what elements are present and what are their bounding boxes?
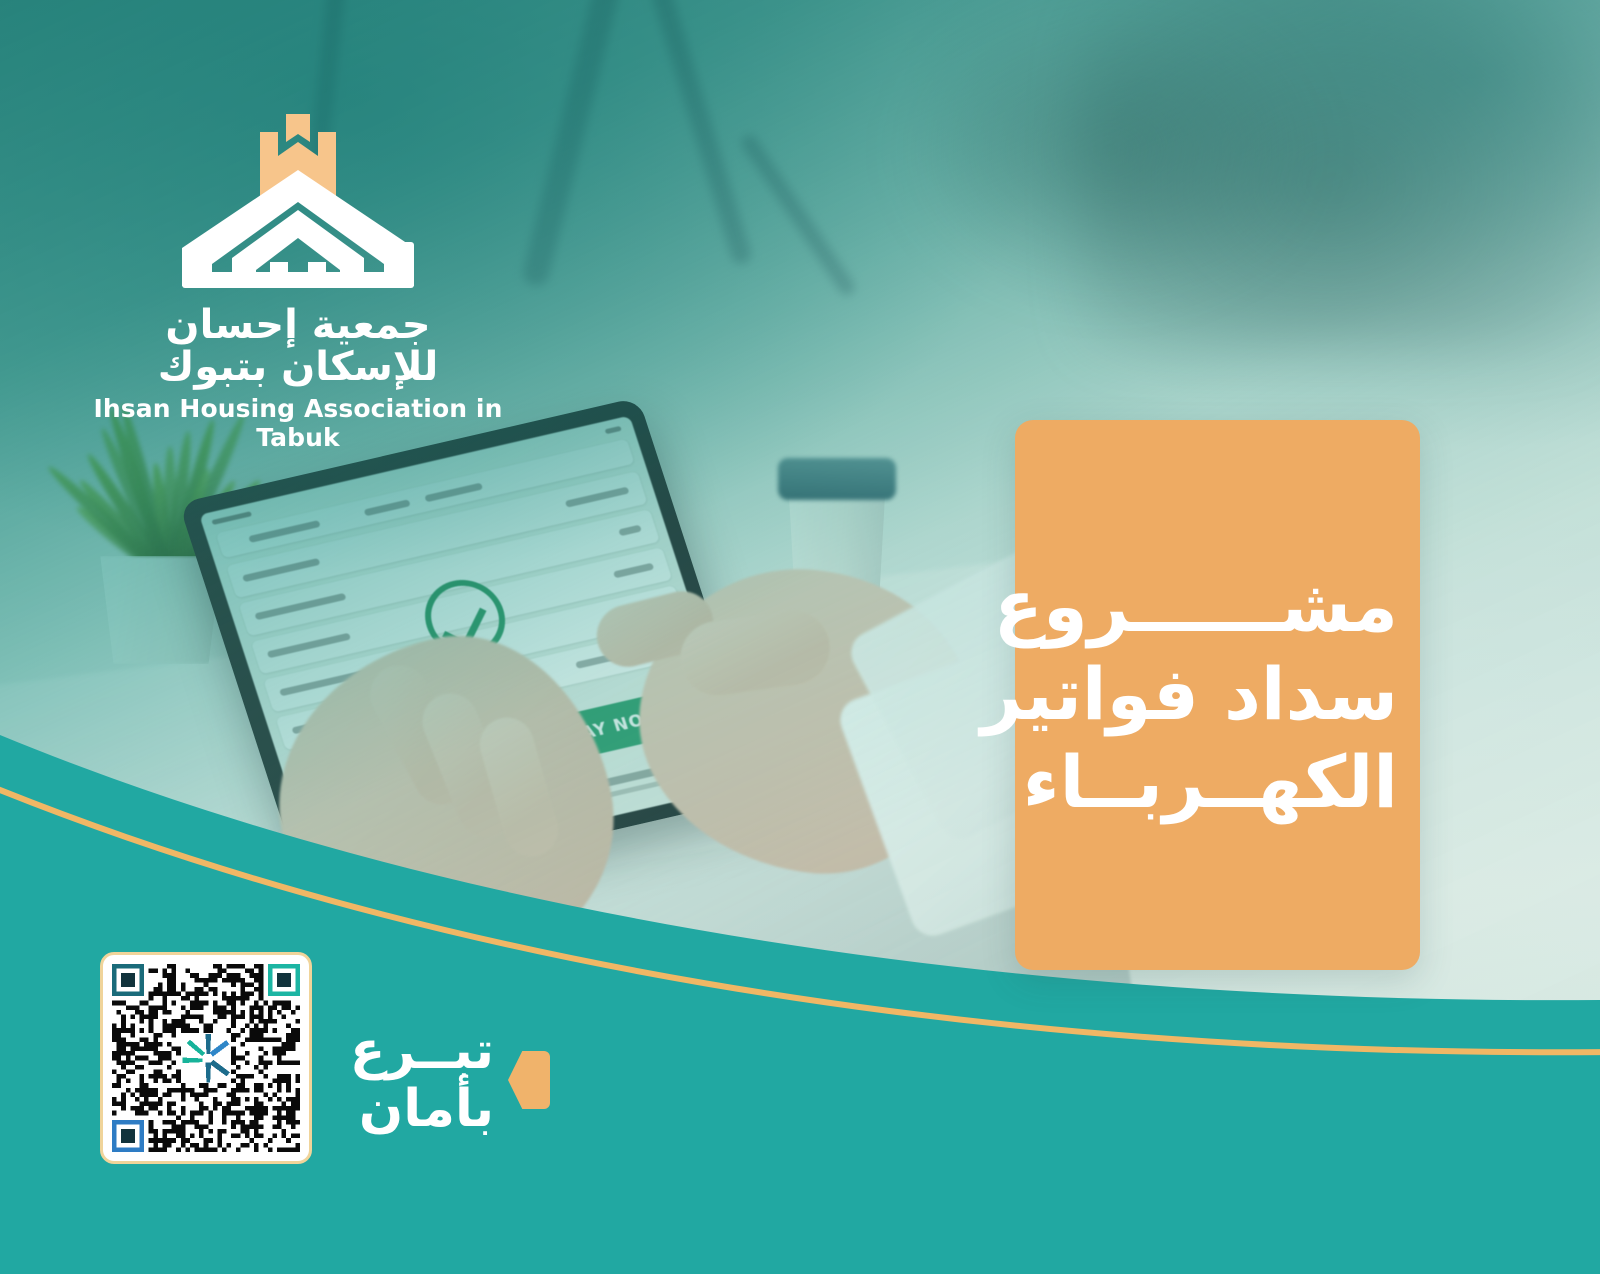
qr-finder-top-left: [112, 964, 144, 996]
brand-name-en: Ihsan Housing Association in Tabuk: [88, 394, 508, 452]
mosque-house-crown-icon: [178, 112, 418, 290]
qr-finder-top-right: [268, 964, 300, 996]
donate-cta[interactable]: تبــرع بأمان: [330, 1012, 550, 1148]
donation-qr-code[interactable]: [100, 952, 312, 1164]
promotional-poster: PAY NOW: [0, 0, 1600, 1274]
headline-line-2: سداد فواتير: [1037, 651, 1398, 739]
chevron-left-marker-icon: [508, 1051, 550, 1109]
brand-name-ar: جمعية إحسان للإسكان بتبوك: [88, 304, 508, 388]
cta-line-1: تبــرع: [350, 1022, 494, 1080]
brand-logo: جمعية إحسان للإسكان بتبوك Ihsan Housing …: [88, 112, 508, 452]
headline-card: مشــــــروع سداد فواتير الكهــربــاء: [1015, 420, 1420, 970]
cta-text: تبــرع بأمان: [350, 1022, 494, 1138]
qr-finder-bottom-left: [112, 1120, 144, 1152]
headline-line-3: الكهــربــاء: [1037, 739, 1398, 827]
crown-finial: [286, 114, 310, 142]
cta-line-2: بأمان: [350, 1080, 494, 1138]
qr-matrix: [112, 964, 300, 1152]
headline-line-1: مشــــــروع: [1037, 563, 1398, 651]
